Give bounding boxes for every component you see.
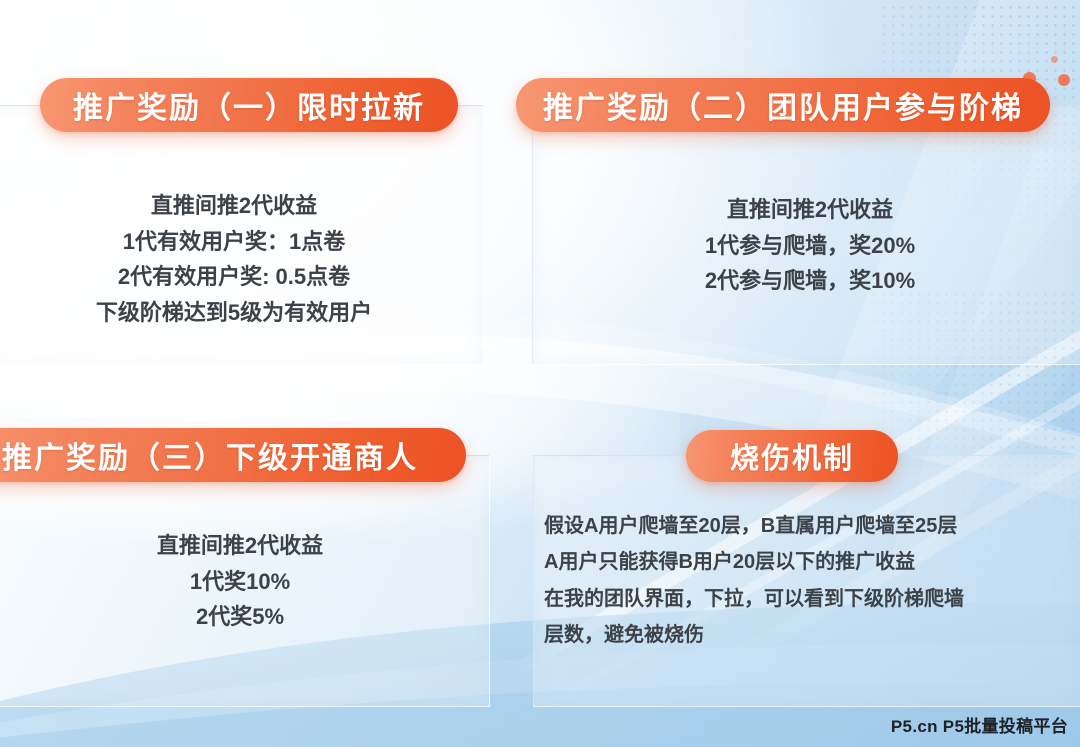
card-title-pill-promo-reward-3: 推广奖励（三）下级开通商人: [0, 428, 466, 482]
accent-dot-icon: [1058, 74, 1070, 86]
watermark-text: P5.cn P5批量投稿平台: [891, 712, 1068, 737]
card-title-pill-burn-mechanism: 烧伤机制: [686, 430, 898, 482]
promotion-reward-infographic: 推广奖励（一）限时拉新 直推间推2代收益 1代有效用户奖：1点卷 2代有效用户奖…: [0, 0, 1080, 747]
card-body-line: 2代参与爬墙，奖10%: [600, 263, 1020, 299]
card-body-line: 2代有效用户奖: 0.5点卷: [24, 259, 444, 295]
card-body-line: 1代有效用户奖：1点卷: [24, 224, 444, 260]
card-body-line: 1代参与爬墙，奖20%: [600, 228, 1020, 264]
card-body-promo-reward-2: 直推间推2代收益 1代参与爬墙，奖20% 2代参与爬墙，奖10%: [600, 192, 1020, 299]
card-body-line: 2代奖5%: [40, 599, 440, 635]
card-body-line: 下级阶梯达到5级为有效用户: [24, 295, 444, 331]
card-body-line: 假设A用户爬墙至20层，B直属用户爬墙至25层: [544, 508, 1044, 544]
accent-dot-small-icon: [1051, 56, 1058, 63]
card-body-line: 1代奖10%: [40, 564, 440, 600]
card-body-line: 在我的团队界面，下拉，可以看到下级阶梯爬墙: [544, 581, 1044, 617]
card-body-burn-mechanism: 假设A用户爬墙至20层，B直属用户爬墙至25层 A用户只能获得B用户20层以下的…: [544, 508, 1044, 654]
card-body-line: A用户只能获得B用户20层以下的推广收益: [544, 544, 1044, 580]
card-body-promo-reward-3: 直推间推2代收益 1代奖10% 2代奖5%: [40, 528, 440, 635]
card-body-promo-reward-1: 直推间推2代收益 1代有效用户奖：1点卷 2代有效用户奖: 0.5点卷 下级阶梯…: [24, 188, 444, 331]
card-body-line: 直推间推2代收益: [24, 188, 444, 224]
card-body-line: 层数，避免被烧伤: [544, 617, 1044, 653]
card-body-line: 直推间推2代收益: [600, 192, 1020, 228]
card-title-pill-promo-reward-1: 推广奖励（一）限时拉新: [40, 78, 458, 132]
card-title-pill-promo-reward-2: 推广奖励（二）团队用户参与阶梯: [516, 78, 1050, 132]
card-body-line: 直推间推2代收益: [40, 528, 440, 564]
